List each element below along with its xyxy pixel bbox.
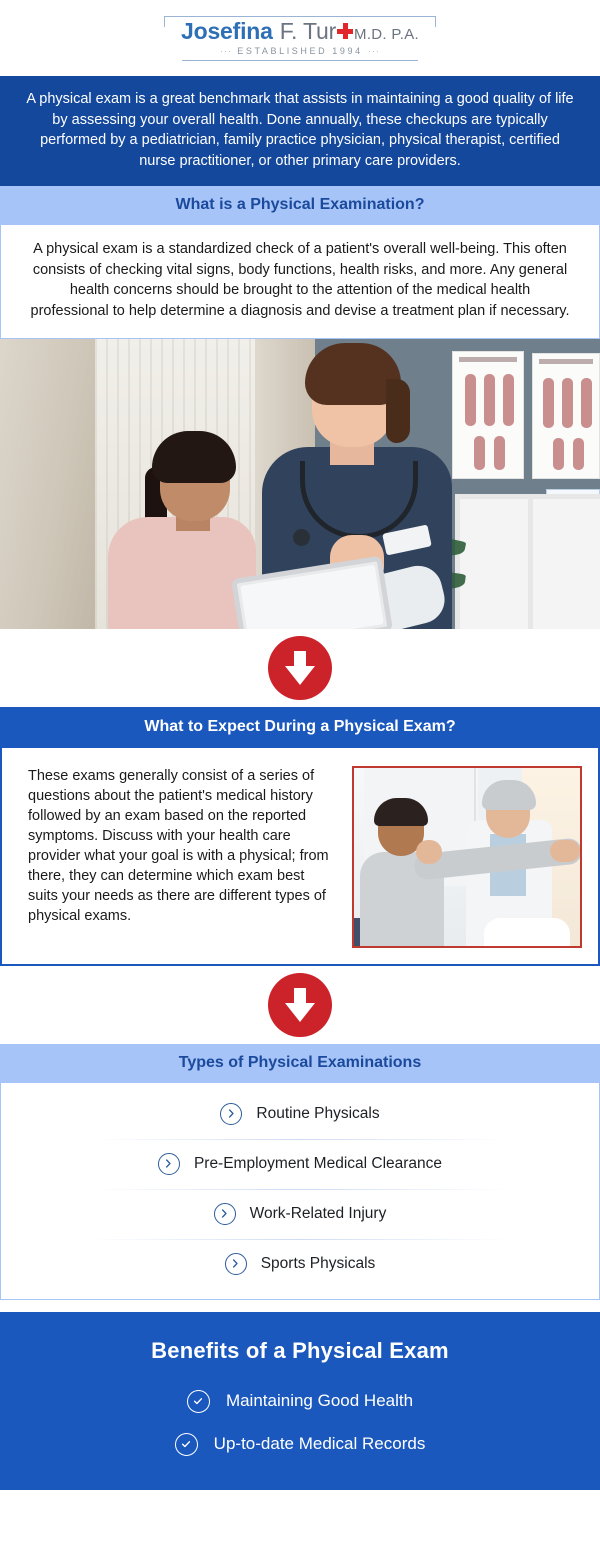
chevron-right-circle-icon (225, 1253, 247, 1275)
types-list: Routine Physicals Pre-Employment Medical… (0, 1083, 600, 1300)
check-circle-icon (187, 1390, 210, 1413)
logo-established-text: ESTABLISHED 1994 (237, 46, 362, 56)
chevron-right-circle-icon (220, 1103, 242, 1125)
down-arrow-circle-icon (268, 636, 332, 700)
clinic-consult-photo (0, 339, 600, 629)
anatomy-poster-2-icon (532, 353, 600, 479)
check-circle-icon (175, 1433, 198, 1456)
type-label: Work-Related Injury (250, 1205, 387, 1223)
intro-banner: A physical exam is a great benchmark tha… (0, 76, 600, 186)
logo-established: ··· ESTABLISHED 1994 ··· (181, 46, 419, 56)
logo-credentials: M.D. P.A. (354, 27, 419, 42)
logo-last-name: F. Tur (280, 20, 336, 43)
down-arrow-circle-icon (268, 973, 332, 1037)
list-item: Up-to-date Medical Records (0, 1433, 600, 1456)
list-item[interactable]: Work-Related Injury (1, 1189, 599, 1239)
chevron-right-circle-icon (158, 1153, 180, 1175)
logo-header: Josefina F. Tur M.D. P.A. ··· ESTABLISHE… (0, 0, 600, 76)
list-item[interactable]: Routine Physicals (1, 1089, 599, 1139)
section-header-types: Types of Physical Examinations (0, 1044, 600, 1083)
type-label: Sports Physicals (261, 1255, 376, 1273)
shoulder-exam-photo (352, 766, 582, 948)
section-header-what-is: What is a Physical Examination? (0, 186, 600, 225)
type-label: Pre-Employment Medical Clearance (194, 1155, 442, 1173)
expect-body-text: These exams generally consist of a serie… (28, 766, 336, 948)
chevron-right-circle-icon (214, 1203, 236, 1225)
type-label: Routine Physicals (256, 1105, 379, 1123)
section-card-expect: These exams generally consist of a serie… (0, 748, 600, 966)
logo-first-name: Josefina (181, 20, 273, 43)
benefits-title: Benefits of a Physical Exam (0, 1338, 600, 1364)
benefit-label: Up-to-date Medical Records (214, 1434, 426, 1454)
benefit-label: Maintaining Good Health (226, 1391, 413, 1411)
logo-dots-left: ··· (220, 46, 232, 56)
down-arrow-2 (0, 966, 600, 1044)
benefits-section: Benefits of a Physical Exam Maintaining … (0, 1312, 600, 1490)
spacer (0, 1300, 600, 1312)
medical-cross-icon (337, 23, 353, 39)
section-header-expect: What to Expect During a Physical Exam? (0, 707, 600, 748)
list-item: Maintaining Good Health (0, 1390, 600, 1413)
list-item[interactable]: Pre-Employment Medical Clearance (1, 1139, 599, 1189)
logo-dots-right: ··· (368, 46, 380, 56)
down-arrow-1 (0, 629, 600, 707)
logo-wordmark: Josefina F. Tur M.D. P.A. (181, 20, 419, 43)
what-is-body-text: A physical exam is a standardized check … (1, 225, 599, 337)
infographic-page: Josefina F. Tur M.D. P.A. ··· ESTABLISHE… (0, 0, 600, 1550)
section-card-what-is: A physical exam is a standardized check … (0, 225, 600, 338)
list-item[interactable]: Sports Physicals (1, 1239, 599, 1289)
anatomy-poster-icon (452, 351, 524, 479)
logo-frame: Josefina F. Tur M.D. P.A. ··· ESTABLISHE… (164, 16, 436, 61)
